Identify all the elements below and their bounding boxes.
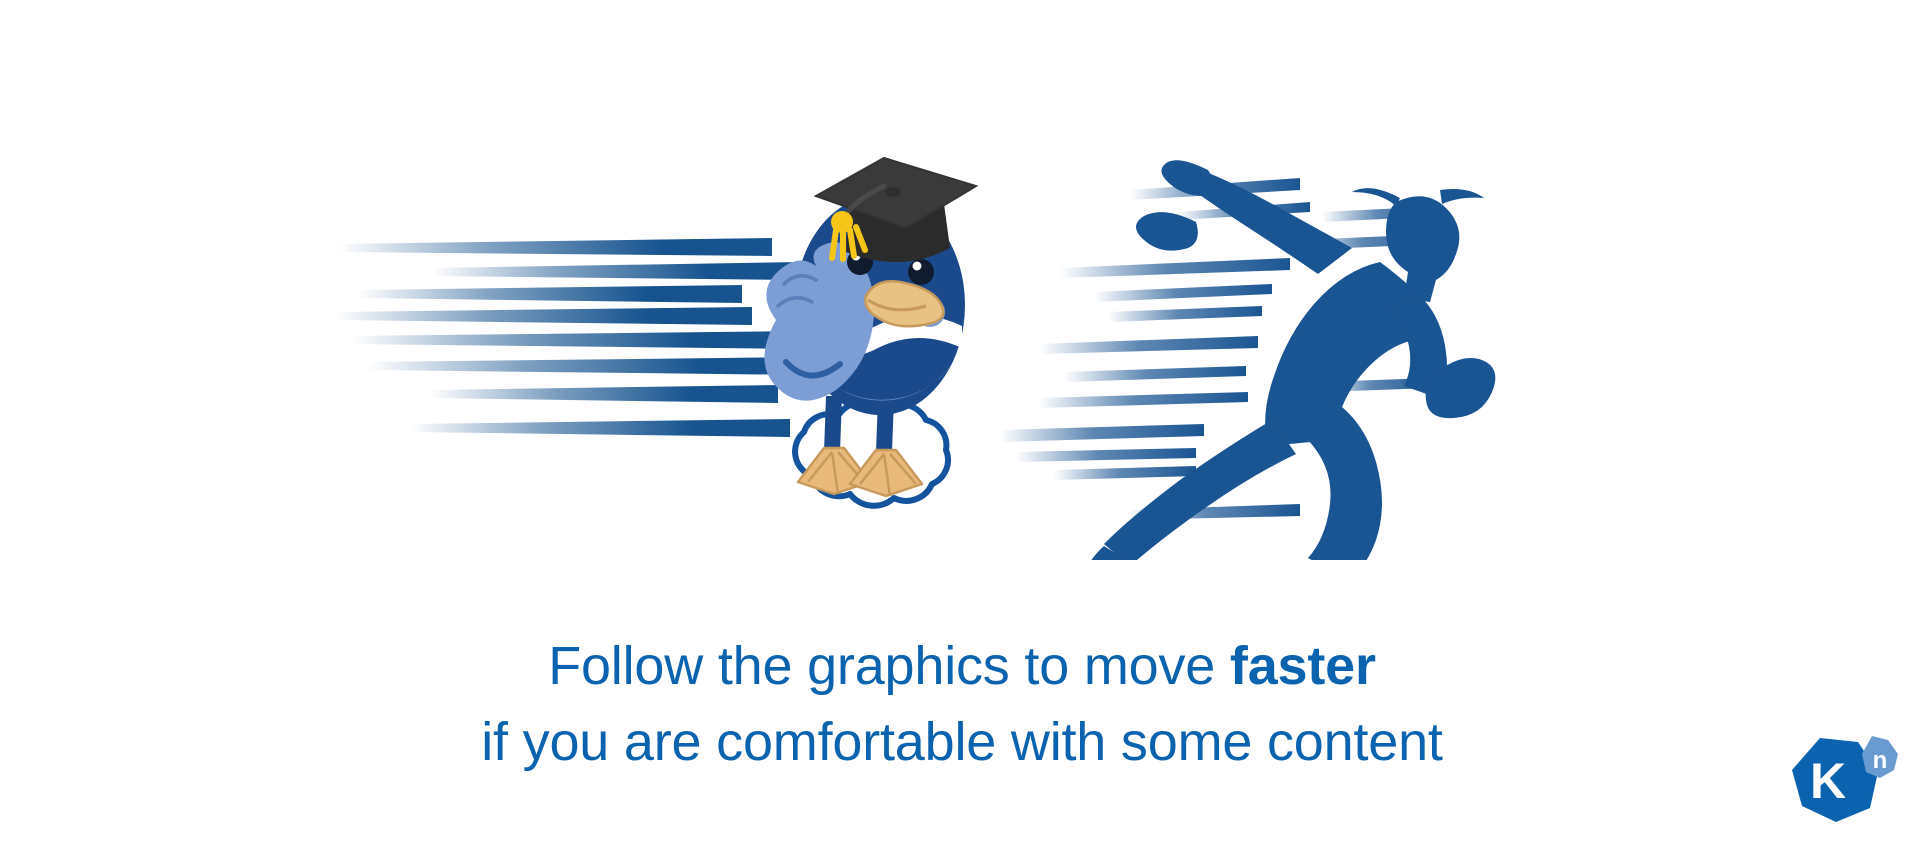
slide-canvas: Follow the graphics to move faster if yo… (0, 0, 1924, 852)
caption-line-2: if you are comfortable with some content (0, 704, 1924, 780)
motion-speed-lines (336, 238, 812, 437)
logo-primary-letter: K (1810, 753, 1846, 809)
caption-line-1-prefix: Follow the graphics to move (548, 636, 1230, 696)
mascot-eye-right (908, 259, 934, 285)
graduate-duck-mascot (764, 158, 976, 506)
brand-logo[interactable]: K n (1782, 728, 1902, 838)
illustration-area (0, 0, 1924, 560)
caption-line-1-emphasis: faster (1230, 636, 1376, 696)
caption-line-1: Follow the graphics to move faster (0, 628, 1924, 704)
mascot-cheek-left (826, 280, 858, 312)
caption-block: Follow the graphics to move faster if yo… (0, 628, 1924, 780)
logo-secondary-letter: n (1873, 747, 1888, 774)
sprinting-runner-silhouette (1000, 160, 1495, 560)
